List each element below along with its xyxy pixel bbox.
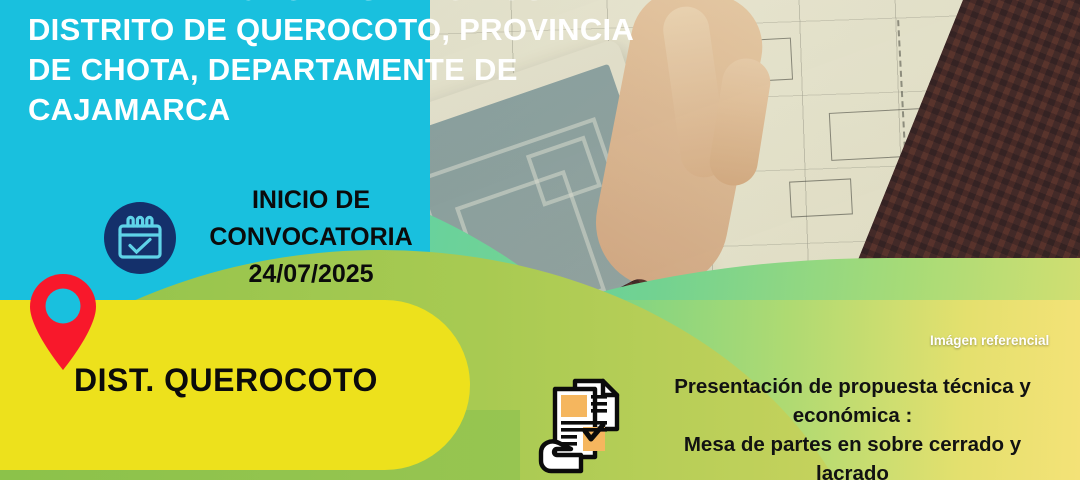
convocatoria-label: INICIO DE CONVOCATORIA 24/07/2025 <box>186 182 436 293</box>
district-label: DIST. QUEROCOTO <box>74 362 378 399</box>
calendar-check-icon <box>104 202 176 274</box>
document-hand-check-icon <box>535 371 639 479</box>
proposal-text: Presentación de propuesta técnica y econ… <box>640 372 1065 480</box>
poster-canvas: LEGEND MEDIANTE MICRO RESERVORIOS EN EL … <box>0 0 1080 480</box>
page-title: MEDIANTE MICRO RESERVORIOS EN EL DISTRIT… <box>28 0 788 130</box>
image-credit-label: Imágen referencial <box>930 333 1049 348</box>
map-pin-icon <box>26 272 100 372</box>
